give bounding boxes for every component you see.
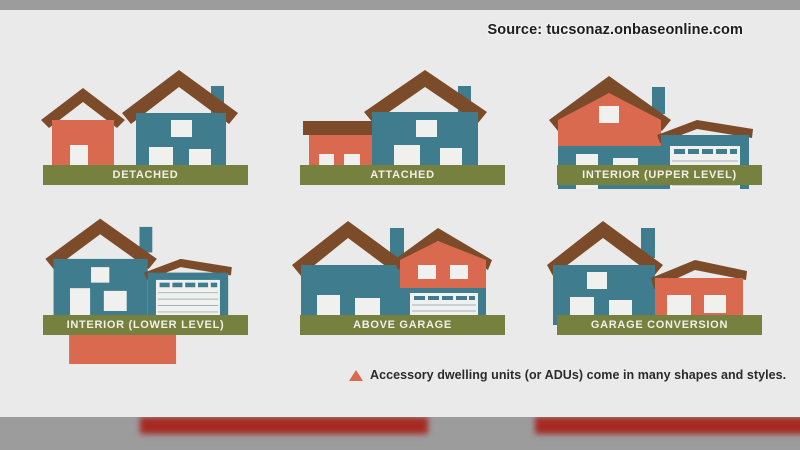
garage-conversion-illustration [547, 215, 792, 375]
main-window [104, 291, 127, 311]
adu-window [704, 295, 726, 313]
adu-types-infographic: Source: tucsonaz.onbaseonline.com DETACH… [0, 0, 800, 450]
diagram-detached: DETACHED [33, 58, 278, 218]
video-bottom-bar[interactable] [0, 417, 800, 450]
adu-upper-storey [558, 120, 661, 146]
label-attached: ATTACHED [300, 165, 505, 185]
garage-door-panes [414, 296, 475, 300]
diagram-attached: ATTACHED [290, 58, 535, 218]
progress-segment-right[interactable] [535, 417, 800, 434]
attic-window [91, 267, 109, 283]
caption: Accessory dwelling units (or ADUs) come … [349, 368, 786, 382]
attic-window [587, 272, 607, 289]
label-above-garage: ABOVE GARAGE [300, 315, 505, 335]
triangle-bullet-icon [349, 370, 363, 381]
label-interior-lower-level: INTERIOR (LOWER LEVEL) [43, 315, 248, 335]
video-top-bar [0, 0, 800, 10]
interior-lower-illustration [33, 215, 278, 375]
source-watermark: Source: tucsonaz.onbaseonline.com [488, 22, 744, 38]
attic-window [416, 120, 437, 137]
above-garage-illustration [290, 215, 535, 375]
diagram-garage-conversion: GARAGE CONVERSION [547, 215, 792, 375]
attached-illustration [290, 58, 535, 218]
diagram-interior-lower-level: INTERIOR (LOWER LEVEL) [33, 215, 278, 375]
adu-flat-roof [303, 121, 381, 135]
progress-segment-left[interactable] [140, 417, 428, 434]
detached-illustration [33, 58, 278, 218]
adu-window-left [418, 265, 436, 279]
adu-window-right [450, 265, 468, 279]
diagram-interior-upper-level: INTERIOR (UPPER LEVEL) [547, 58, 792, 218]
diagram-above-garage: ABOVE GARAGE [290, 215, 535, 375]
attic-window [599, 106, 619, 123]
label-interior-upper-level: INTERIOR (UPPER LEVEL) [557, 165, 762, 185]
interior-upper-illustration [547, 58, 792, 218]
label-garage-conversion: GARAGE CONVERSION [557, 315, 762, 335]
caption-text: Accessory dwelling units (or ADUs) come … [370, 368, 786, 382]
attic-window [171, 120, 192, 137]
main-door [70, 288, 90, 315]
label-detached: DETACHED [43, 165, 248, 185]
adu-above-garage [400, 260, 486, 288]
